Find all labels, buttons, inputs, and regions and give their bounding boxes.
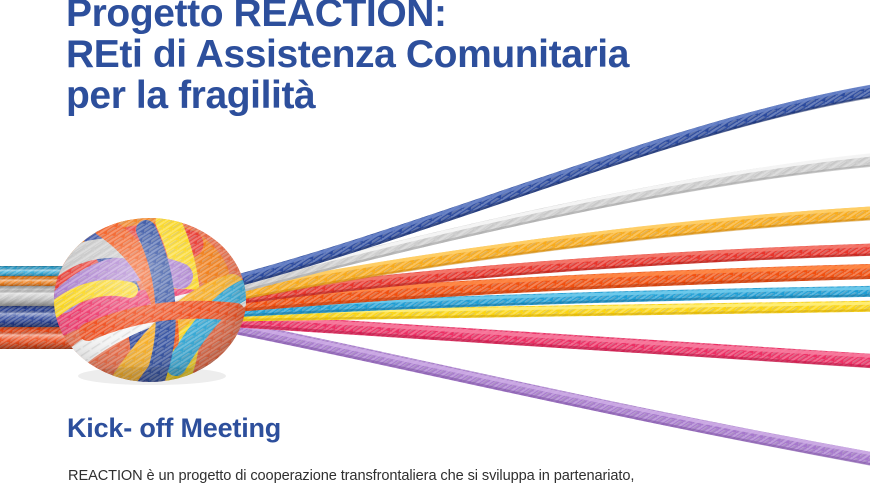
subtitle-kickoff-meeting: Kick- off Meeting <box>67 412 281 444</box>
poster-page: Progetto REACTION: REti di Assistenza Co… <box>0 0 870 490</box>
page-title: Progetto REACTION: REti di Assistenza Co… <box>66 0 806 116</box>
body-paragraph: REACTION è un progetto di cooperazione t… <box>68 466 828 487</box>
